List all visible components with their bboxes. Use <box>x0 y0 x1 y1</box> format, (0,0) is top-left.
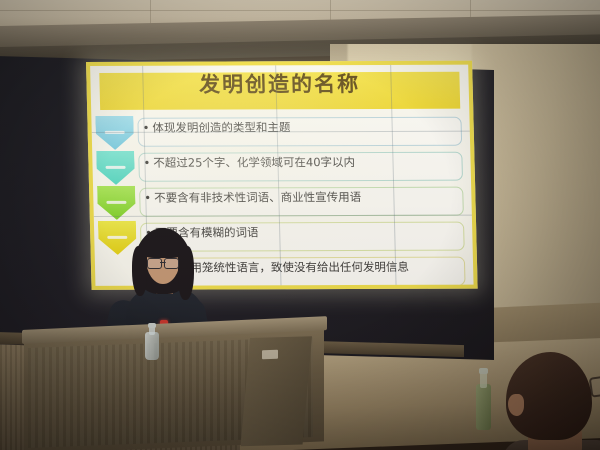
conference-room-photo: 发明创造的名称 •体现发明创造的类型和主题 <box>0 0 600 450</box>
presenter-hair-left <box>132 246 147 296</box>
slide-title: 发明创造的名称 <box>90 68 469 99</box>
glasses-icon <box>147 258 179 267</box>
presenter-hair-right <box>178 246 194 300</box>
podium-nameplate <box>262 350 278 360</box>
chevron-down-icon <box>96 151 135 185</box>
bullet-text: 不要含有非技术性词语、商业性宣传用语 <box>154 190 361 205</box>
seated-attendee <box>498 352 600 450</box>
attendee-ear <box>508 394 524 416</box>
green-water-bottle <box>476 368 491 430</box>
water-bottle <box>145 324 159 360</box>
chevron-down-icon <box>97 186 136 220</box>
list-item: •不要含有非技术性词语、商业性宣传用语 <box>139 185 466 219</box>
list-item: •不超过25个字、化学领域可在40字以内 <box>138 150 465 184</box>
glasses-icon <box>589 374 600 397</box>
bullet-text: 不超过25个字、化学领域可在40字以内 <box>153 155 355 170</box>
